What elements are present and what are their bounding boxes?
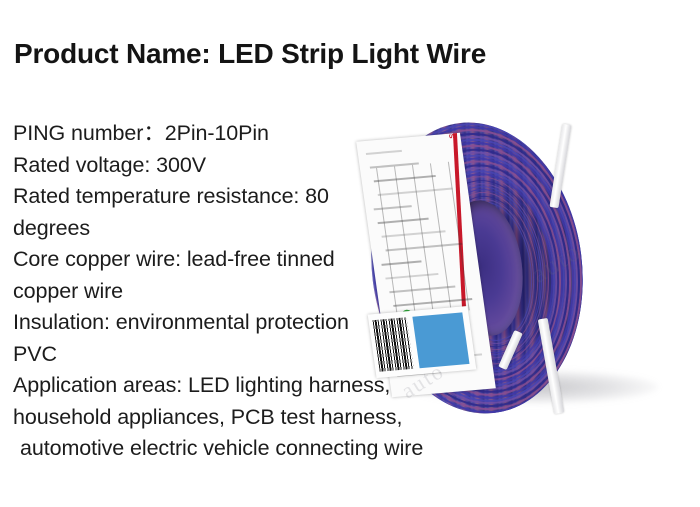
spec-line: Core copper wire: lead-free tinned <box>13 244 513 276</box>
spec-line: household appliances, PCB test harness, <box>13 402 513 434</box>
page-title: Product Name: LED Strip Light Wire <box>14 38 486 70</box>
product-description-page: Product Name: LED Strip Light Wire PING … <box>0 0 700 507</box>
spec-line: Rated temperature resistance: 80 <box>13 181 513 213</box>
spec-line: copper wire <box>13 276 513 308</box>
spec-line: Rated voltage: 300V <box>13 150 513 182</box>
spec-line: Application areas: LED lighting harness, <box>13 370 513 402</box>
spec-line: degrees <box>13 213 513 245</box>
specification-list: PING number：2Pin-10PinRated voltage: 300… <box>13 118 513 465</box>
spec-line: Insulation: environmental protection <box>13 307 513 339</box>
spec-line: PING number：2Pin-10Pin <box>13 118 513 150</box>
spec-line: automotive electric vehicle connecting w… <box>13 433 513 465</box>
spec-line: PVC <box>13 339 513 371</box>
